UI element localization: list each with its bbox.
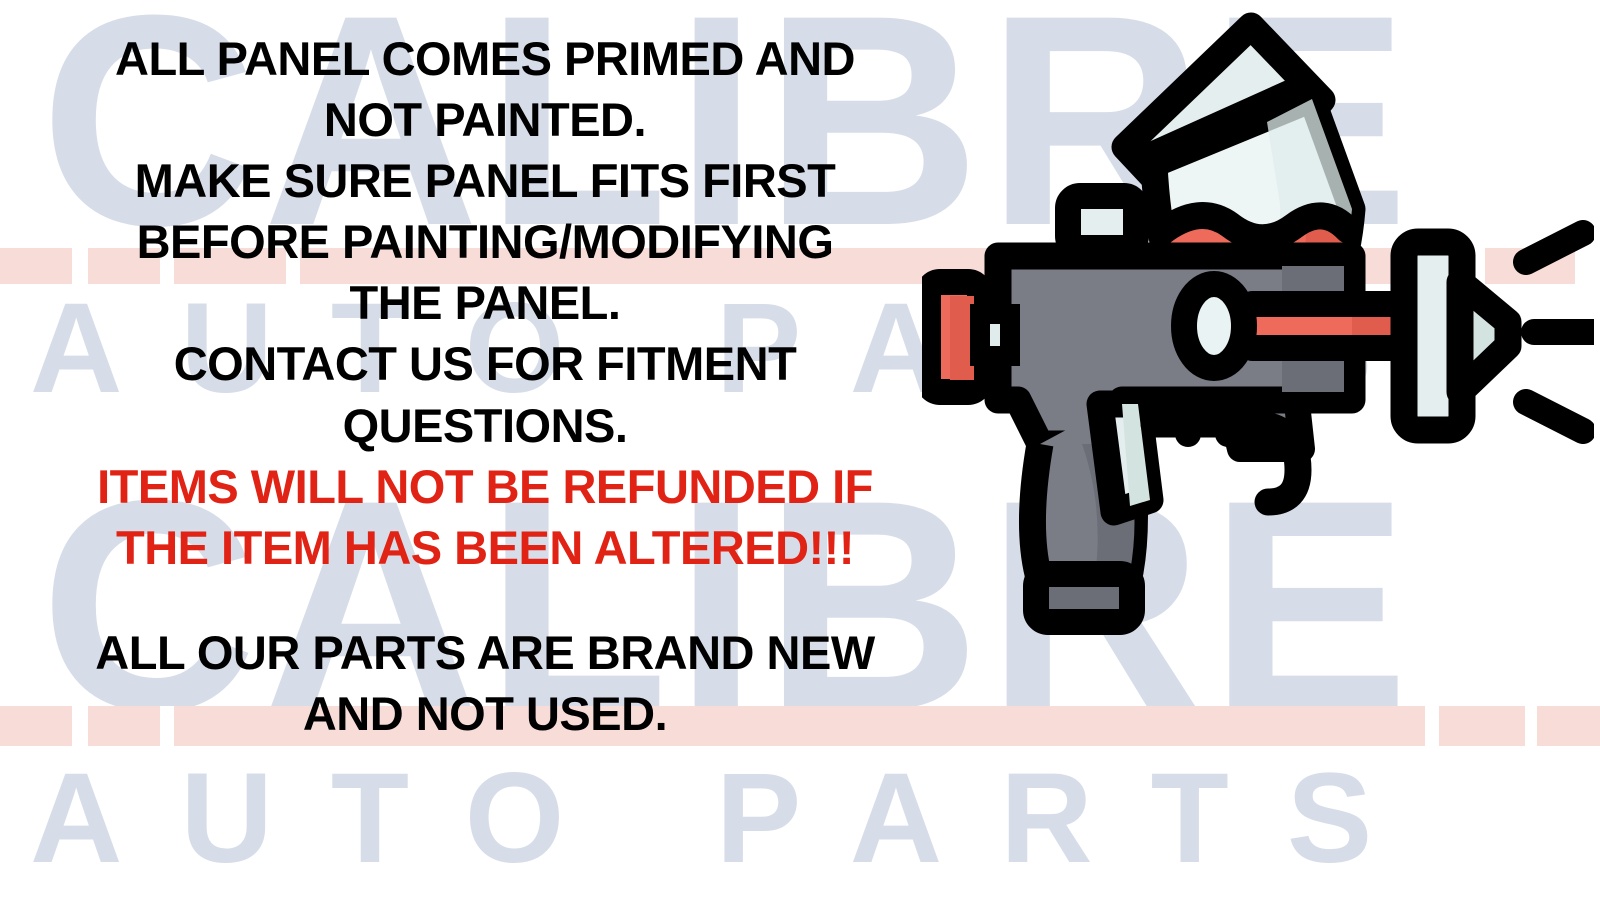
watermark-autoparts-bottom: AUTO PARTS bbox=[30, 755, 1430, 883]
message-line: MAKE SURE PANEL FITS FIRST bbox=[70, 150, 900, 211]
disclaimer-text-block: ALL PANEL COMES PRIMED AND NOT PAINTED. … bbox=[70, 28, 900, 744]
promo-banner: CALIBRE AUTO PARTS CALIBRE AUTO PARTS bbox=[0, 0, 1600, 900]
text-spacer bbox=[70, 578, 900, 622]
message-line-warning: THE ITEM HAS BEEN ALTERED!!! bbox=[70, 517, 900, 578]
message-line: CONTACT US FOR FITMENT bbox=[70, 333, 900, 394]
spray-lines-icon bbox=[1526, 233, 1594, 431]
spray-gun-icon bbox=[922, 4, 1594, 652]
message-line: BEFORE PAINTING/MODIFYING bbox=[70, 211, 900, 272]
message-line: AND NOT USED. bbox=[70, 683, 900, 744]
message-line: NOT PAINTED. bbox=[70, 89, 900, 150]
gun-body bbox=[928, 196, 1508, 622]
message-line: QUESTIONS. bbox=[70, 395, 900, 456]
message-line-warning: ITEMS WILL NOT BE REFUNDED IF bbox=[70, 456, 900, 517]
message-line: ALL OUR PARTS ARE BRAND NEW bbox=[70, 622, 900, 683]
spray-gun-graphic bbox=[928, 26, 1594, 622]
message-line: ALL PANEL COMES PRIMED AND bbox=[70, 28, 900, 89]
message-line: THE PANEL. bbox=[70, 272, 900, 333]
